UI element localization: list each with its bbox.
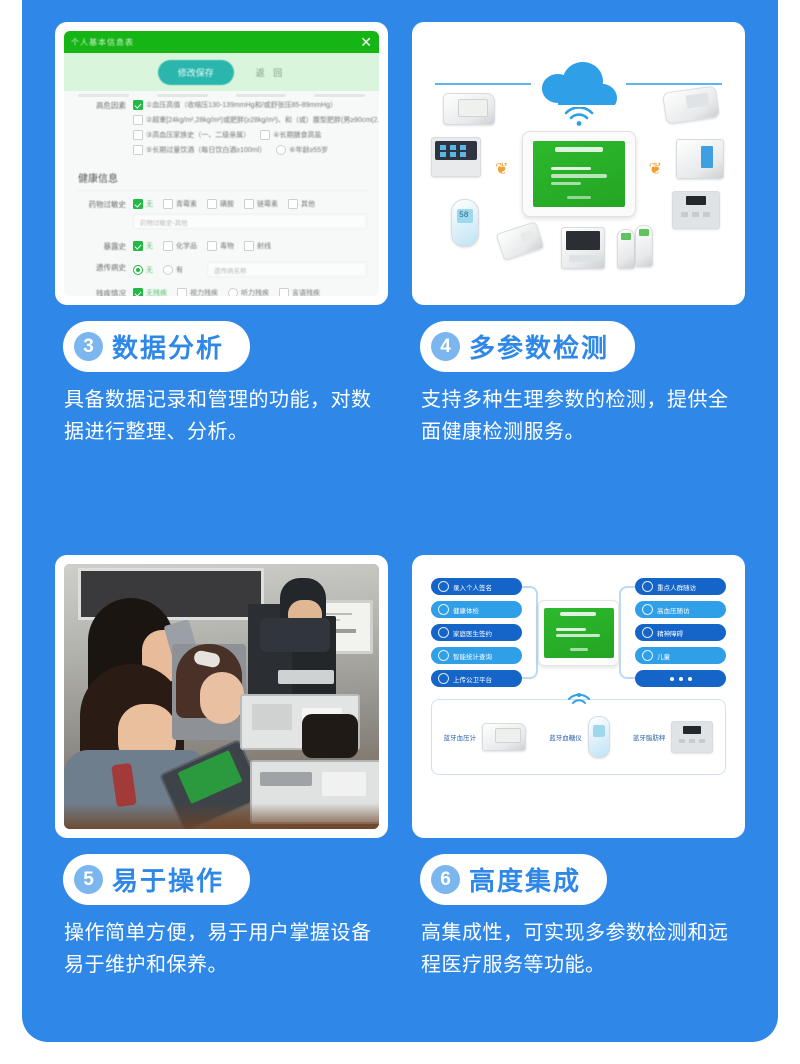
disability-label: 残疾情况 (76, 288, 133, 296)
pill-label: 健康体检 (453, 605, 479, 615)
pulse-oximeter-device (496, 221, 545, 261)
option-label: 磺胺 (220, 199, 234, 209)
right-bracket (619, 586, 636, 679)
cloud-icon (536, 59, 622, 112)
risk-option[interactable]: ②超重[24kg/m²,28kg/m²)或肥胖(≥28kg/m²)、和（或）腹型… (133, 115, 379, 125)
brain-icon (642, 627, 653, 638)
checkbox-icon[interactable] (207, 241, 217, 251)
drug-allergy-option[interactable]: 链霉素 (244, 199, 278, 209)
pill-label: 重点人群随访 (657, 582, 696, 592)
function-pill-signature[interactable]: 录入个人签名 (431, 578, 522, 595)
checkbox-icon[interactable] (163, 199, 173, 209)
photo-dark-bag (302, 714, 358, 758)
drug-allergy-option[interactable]: 无 (133, 199, 153, 209)
bluetooth-icon: ❦ (649, 159, 662, 179)
feature-number: 3 (74, 332, 103, 361)
glucose-meter-icon (588, 716, 610, 758)
drug-allergy-option[interactable]: 其他 (288, 199, 315, 209)
risk-option-label: ⑥年龄≥55岁 (289, 145, 328, 155)
bluetooth-icon: ❦ (495, 159, 508, 179)
checkbox-icon[interactable] (133, 288, 143, 296)
signature-icon (438, 581, 449, 592)
training-photo-inner (64, 564, 379, 829)
risk-factors-options: ①血压高值（收缩压130-139mmHg和/或舒张压85-89mmHg） ②超重… (133, 100, 379, 160)
checkbox-icon[interactable] (133, 100, 143, 110)
risk-option-label: ④长期膳食高盐 (273, 130, 321, 140)
genetic-history-options: 无 有 遗传病名称 (133, 262, 367, 282)
form-screenshot-card: 个人基本信息表 ✕ 修改保存 返 回 高危因素 (55, 22, 388, 305)
connector-line-left (435, 83, 531, 85)
page-root: 个人基本信息表 ✕ 修改保存 返 回 高危因素 (0, 0, 800, 1064)
risk-option[interactable]: ③高血压家族史（一、二级亲属） (133, 130, 250, 140)
checkbox-icon[interactable] (207, 199, 217, 209)
thermometer-device (635, 225, 653, 267)
exposure-option[interactable]: 化学品 (163, 241, 197, 251)
drug-allergy-options: 无 青霉素 磺胺 (133, 199, 367, 235)
center-tablet-device (538, 600, 618, 666)
option-label: 言语残疾 (292, 288, 320, 296)
feature-description: 支持多种生理参数的检测，提供全面健康检测服务。 (421, 384, 737, 449)
group-icon (642, 581, 653, 592)
feature-number: 6 (431, 865, 460, 894)
radio-icon[interactable] (228, 288, 238, 296)
pill-label: 高血压随访 (657, 605, 690, 615)
option-label: 毒物 (220, 241, 234, 251)
option-label: 听力残疾 (241, 288, 269, 296)
ecg-monitor-device (431, 137, 481, 177)
center-tablet-screen (544, 608, 614, 658)
pill-label: 儿童 (657, 651, 670, 661)
option-label: 链霉素 (257, 199, 278, 209)
function-pill-statistics[interactable]: 智能统计查询 (431, 647, 522, 664)
stethoscope-icon (438, 604, 449, 615)
feature-description: 具备数据记录和管理的功能，对数据进行整理、分析。 (64, 384, 380, 449)
photo-person-rear-body (260, 618, 330, 652)
connector-line-right (626, 83, 722, 85)
drug-allergy-option[interactable]: 青霉素 (163, 199, 197, 209)
integration-diagram-inner: 录入个人签名 健康体检 家庭医生签约 (421, 564, 736, 829)
training-photo (64, 564, 379, 829)
back-button[interactable]: 返 回 (256, 66, 286, 79)
genetic-option[interactable]: 无 (133, 265, 153, 275)
flow-columns: 录入个人签名 健康体检 家庭医生签约 (431, 578, 726, 687)
chart-icon (438, 650, 449, 661)
body-scale-icon (671, 721, 713, 753)
bluetooth-wireless-icon (566, 689, 592, 712)
analyzer-printer-device (561, 227, 605, 269)
feature-description: 操作简单方便，易于用户掌握设备易于维护和保养。 (64, 917, 380, 982)
feature-title: 高度集成 (469, 861, 581, 898)
tablet-device (522, 131, 636, 217)
feature-badge-3: 3 数据分析 (63, 321, 250, 372)
blood-pressure-icon (482, 723, 526, 751)
function-pill-upload[interactable]: 上传公卫平台 (431, 670, 522, 687)
option-label: 无 (146, 199, 153, 209)
bluetooth-devices-group: 蓝牙血压计 蓝牙血糖仪 (431, 699, 726, 775)
device-label: 蓝牙血压计 (444, 732, 477, 742)
checkbox-icon[interactable] (133, 145, 143, 155)
feature-description: 高集成性，可实现多参数检测和远程医疗服务等功能。 (421, 917, 737, 982)
spirometer-device (662, 85, 720, 124)
risk-option-label: ①血压高值（收缩压130-139mmHg和/或舒张压85-89mmHg） (146, 100, 337, 110)
pill-label: 家庭医生签约 (453, 628, 492, 638)
left-function-list: 录入个人签名 健康体检 家庭医生签约 (431, 578, 522, 687)
body-scale-device (672, 191, 720, 229)
blood-pressure-monitor-device (443, 93, 495, 125)
checkbox-icon[interactable] (244, 199, 254, 209)
option-label: 射线 (257, 241, 271, 251)
feature-number: 4 (431, 332, 460, 361)
risk-option-label: ③高血压家族史（一、二级亲属） (146, 130, 250, 140)
save-button[interactable]: 修改保存 (158, 60, 234, 85)
integration-diagram-card: 录入个人签名 健康体检 家庭医生签约 (412, 555, 745, 838)
photo-floor (64, 803, 379, 829)
function-pill-mental-disorder[interactable]: 精神障碍 (635, 624, 726, 641)
option-label: 青霉素 (176, 199, 197, 209)
multi-parameter-devices-diagram: ❦ ❦ (421, 31, 736, 296)
feature-badge-4: 4 多参数检测 (420, 321, 635, 372)
child-icon (642, 650, 653, 661)
checkbox-icon[interactable] (163, 241, 173, 251)
risk-option[interactable]: ④长期膳食高盐 (260, 130, 321, 140)
disability-option[interactable]: 视力残疾 (177, 288, 218, 296)
form-ghost-fields (64, 94, 379, 97)
checkbox-icon[interactable] (260, 130, 270, 140)
option-label: 无残疾 (146, 288, 167, 296)
pill-label: 录入个人签名 (453, 582, 492, 592)
checkbox-icon[interactable] (133, 241, 143, 251)
form-screenshot-inner: 个人基本信息表 ✕ 修改保存 返 回 高危因素 (64, 31, 379, 296)
risk-option[interactable]: ①血压高值（收缩压130-139mmHg和/或舒张压85-89mmHg） (133, 100, 337, 110)
option-label: 化学品 (176, 241, 197, 251)
pill-label: 智能统计查询 (453, 651, 492, 661)
feature-title: 数据分析 (112, 328, 224, 365)
photo-device-strip (278, 670, 334, 684)
photo-person-middle-face (200, 672, 244, 724)
disability-option[interactable]: 听力残疾 (228, 288, 269, 296)
form-body: 高危因素 ①血压高值（收缩压130-139mmHg和/或舒张压85-89mmHg… (64, 91, 379, 296)
option-label: 有 (176, 265, 183, 275)
risk-option[interactable]: ⑤长期过量饮酒（每日饮白酒≥100ml） (133, 145, 266, 155)
option-label: 无 (146, 265, 153, 275)
disability-option[interactable]: 无残疾 (133, 288, 167, 296)
device-label: 蓝牙脂肪秤 (633, 732, 666, 742)
genetic-history-row: 遗传病史 无 有 (76, 262, 367, 282)
health-info-section-title: 健康信息 (78, 170, 367, 191)
features-grid: 个人基本信息表 ✕ 修改保存 返 回 高危因素 (22, 0, 778, 1042)
radio-icon[interactable] (133, 265, 143, 275)
checkbox-icon[interactable] (133, 199, 143, 209)
function-pill-children[interactable]: 儿童 (635, 647, 726, 664)
doctor-icon (438, 627, 449, 638)
checkbox-icon[interactable] (177, 288, 187, 296)
option-label: 其他 (301, 199, 315, 209)
right-function-list: 重点人群随访 高血压随访 精神障碍 (635, 578, 726, 687)
glucose-meter-device: 58 (451, 199, 479, 247)
feature-card-5: 5 易于操作 操作简单方便，易于用户掌握设备易于维护和保养。 (55, 555, 388, 1042)
disability-row: 残疾情况 无残疾 视力 (76, 288, 367, 296)
function-pill-family-doctor[interactable]: 家庭医生签约 (431, 624, 522, 641)
urine-analyzer-device (676, 139, 724, 179)
health-record-form-window: 个人基本信息表 ✕ 修改保存 返 回 高危因素 (64, 31, 379, 296)
form-toolbar: 修改保存 返 回 (64, 53, 379, 91)
feature-number: 5 (74, 865, 103, 894)
drug-allergy-option[interactable]: 磺胺 (207, 199, 234, 209)
training-photo-card (55, 555, 388, 838)
drug-allergy-row: 药物过敏史 无 青霉素 (76, 199, 367, 235)
checkbox-icon[interactable] (288, 199, 298, 209)
genetic-disease-name-input[interactable]: 遗传病名称 (207, 262, 367, 277)
device-label: 蓝牙血糖仪 (549, 732, 582, 742)
exposure-option[interactable]: 射线 (244, 241, 271, 251)
integration-flow-diagram: 录入个人签名 健康体检 家庭医生签约 (421, 564, 736, 829)
genetic-option[interactable]: 有 (163, 265, 183, 275)
feature-card-6: 录入个人签名 健康体检 家庭医生签约 (412, 555, 745, 1042)
function-pill-health-check[interactable]: 健康体检 (431, 601, 522, 618)
form-window-title: 个人基本信息表 (71, 37, 134, 48)
feature-badge-6: 6 高度集成 (420, 854, 607, 905)
left-bracket (522, 586, 539, 679)
disability-options: 无残疾 视力残疾 听力残疾 (133, 288, 367, 296)
drug-allergy-label: 药物过敏史 (76, 199, 133, 210)
exposure-history-options: 无 化学品 毒物 (133, 241, 367, 256)
risk-factors-row: 高危因素 ①血压高值（收缩压130-139mmHg和/或舒张压85-89mmHg… (76, 100, 367, 160)
close-icon[interactable]: ✕ (360, 35, 372, 49)
checkbox-icon[interactable] (244, 241, 254, 251)
thermometer-device (617, 229, 635, 269)
pill-label: 上传公卫平台 (453, 674, 492, 684)
exposure-option[interactable]: 无 (133, 241, 153, 251)
function-pill-key-population[interactable]: 重点人群随访 (635, 578, 726, 595)
more-dots-icon (642, 677, 719, 681)
bluetooth-device-scale: 蓝牙脂肪秤 (633, 721, 714, 753)
upload-icon (438, 673, 449, 684)
function-pill-hypertension[interactable]: 高血压随访 (635, 601, 726, 618)
radio-icon[interactable] (163, 265, 173, 275)
devices-diagram-inner: ❦ ❦ (421, 31, 736, 296)
exposure-history-row: 暴露史 无 化学品 (76, 241, 367, 256)
feature-badge-5: 5 易于操作 (63, 854, 250, 905)
checkbox-icon[interactable] (133, 130, 143, 140)
devices-diagram-card: ❦ ❦ (412, 22, 745, 305)
exposure-history-label: 暴露史 (76, 241, 133, 252)
heart-icon (642, 604, 653, 615)
bluetooth-device-glucose: 蓝牙血糖仪 (549, 716, 610, 758)
wifi-icon (564, 107, 594, 132)
pill-label: 精神障碍 (657, 628, 683, 638)
risk-factors-label: 高危因素 (76, 100, 133, 111)
feature-card-4: ❦ ❦ (412, 22, 745, 509)
disability-option[interactable]: 言语残疾 (279, 288, 320, 296)
drug-allergy-other-input[interactable]: 药物过敏史-其他 (133, 214, 367, 229)
function-pill-more[interactable] (635, 670, 726, 687)
form-titlebar: 个人基本信息表 ✕ (64, 31, 379, 53)
option-label: 无 (146, 241, 153, 251)
checkbox-icon[interactable] (279, 288, 289, 296)
risk-option-label: ⑤长期过量饮酒（每日饮白酒≥100ml） (146, 145, 266, 155)
bluetooth-device-bp: 蓝牙血压计 (444, 723, 527, 751)
tablet-screen (533, 141, 625, 207)
exposure-option[interactable]: 毒物 (207, 241, 234, 251)
feature-title: 多参数检测 (469, 328, 609, 365)
radio-icon[interactable] (276, 145, 286, 155)
risk-option[interactable]: ⑥年龄≥55岁 (276, 145, 328, 155)
risk-option-label: ②超重[24kg/m²,28kg/m²)或肥胖(≥28kg/m²)、和（或）腹型… (146, 115, 379, 125)
option-label: 视力残疾 (190, 288, 218, 296)
feature-title: 易于操作 (112, 861, 224, 898)
genetic-history-label: 遗传病史 (76, 262, 133, 273)
checkbox-icon[interactable] (133, 115, 143, 125)
feature-card-3: 个人基本信息表 ✕ 修改保存 返 回 高危因素 (55, 22, 388, 509)
